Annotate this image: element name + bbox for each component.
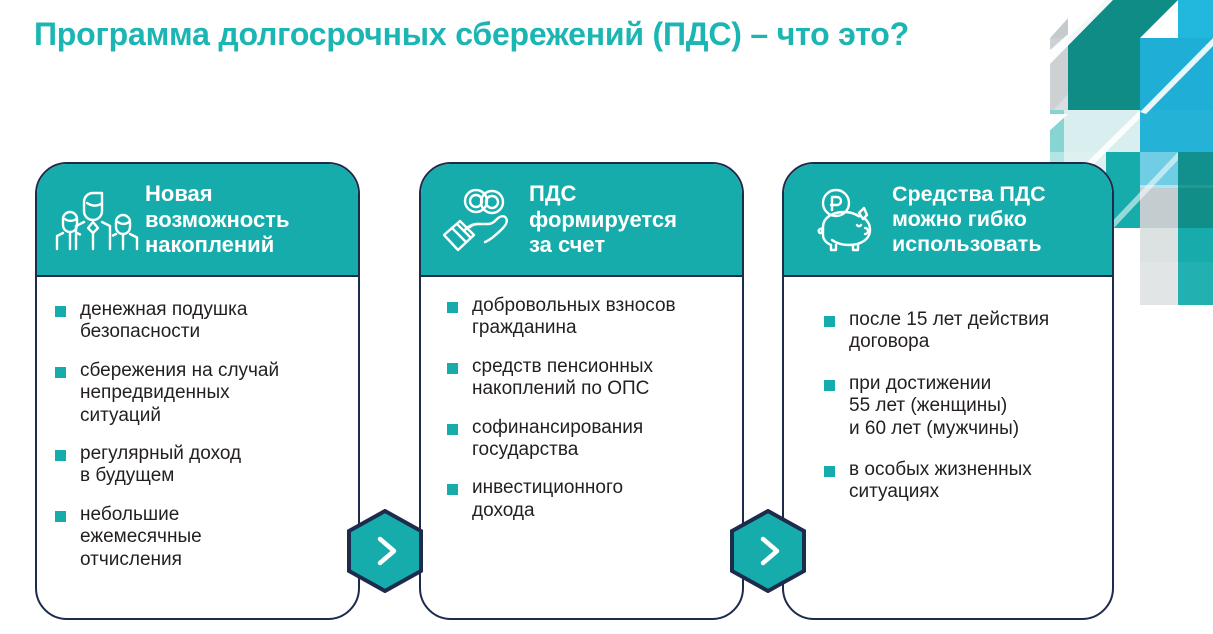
card-title: ПДС формируется за счет: [527, 181, 730, 258]
list-item: в особых жизненных ситуациях: [824, 459, 1096, 504]
bullet-square-icon: [447, 424, 458, 435]
hexagon-shape: [346, 509, 424, 593]
list-item-label: добровольных взносов гражданина: [472, 295, 726, 340]
bullet-square-icon: [55, 306, 66, 317]
connector-hexagon-1[interactable]: [346, 509, 424, 593]
list-item-label: сбережения на случай непредвиденных ситу…: [80, 360, 342, 427]
list-item: небольшие ежемесячные отчисления: [55, 504, 342, 571]
hand-with-coins-icon: [435, 183, 527, 257]
card-body: денежная подушка безопасности сбережения…: [37, 277, 358, 597]
bullet-square-icon: [447, 302, 458, 313]
list-item-label: небольшие ежемесячные отчисления: [80, 504, 342, 571]
card-pds-flexible-use: Средства ПДС можно гибко использовать по…: [782, 162, 1114, 620]
card-body: после 15 лет действия договора при дости…: [784, 277, 1112, 533]
page-title: Программа долгосрочных сбережений (ПДС) …: [34, 16, 1034, 53]
card-body: добровольных взносов гражданина средств …: [421, 277, 742, 548]
card-title: Средства ПДС можно гибко использовать: [890, 182, 1100, 257]
card-header: Новая возможность накоплений: [37, 164, 358, 277]
card-header: ПДС формируется за счет: [421, 164, 742, 277]
list-item: инвестиционного дохода: [447, 477, 726, 522]
list-item: средств пенсионных накоплений по ОПС: [447, 356, 726, 401]
card-new-savings-opportunity: Новая возможность накоплений денежная по…: [35, 162, 360, 620]
slide-canvas: Программа долгосрочных сбережений (ПДС) …: [0, 0, 1213, 634]
list-item-label: денежная подушка безопасности: [80, 299, 342, 344]
list-item-label: средств пенсионных накоплений по ОПС: [472, 356, 726, 401]
bullet-square-icon: [55, 450, 66, 461]
list-item-label: после 15 лет действия договора: [849, 309, 1096, 354]
list-item: денежная подушка безопасности: [55, 299, 342, 344]
list-item-label: в особых жизненных ситуациях: [849, 459, 1096, 504]
bullet-square-icon: [824, 466, 835, 477]
card-title: Новая возможность накоплений: [143, 181, 346, 258]
list-item: добровольных взносов гражданина: [447, 295, 726, 340]
list-item-label: при достижении 55 лет (женщины) и 60 лет…: [849, 373, 1096, 440]
list-item: регулярный доход в будущем: [55, 443, 342, 488]
bullet-square-icon: [447, 484, 458, 495]
list-item: сбережения на случай непредвиденных ситу…: [55, 360, 342, 427]
list-item: после 15 лет действия договора: [824, 309, 1096, 354]
list-item-label: регулярный доход в будущем: [80, 443, 342, 488]
connector-hexagon-2[interactable]: [729, 509, 807, 593]
list-item: при достижении 55 лет (женщины) и 60 лет…: [824, 373, 1096, 440]
three-people-icon: [51, 183, 143, 257]
list-item: софинансирования государства: [447, 417, 726, 462]
card-header: Средства ПДС можно гибко использовать: [784, 164, 1112, 277]
bullet-square-icon: [55, 511, 66, 522]
piggy-bank-ruble-icon: [798, 183, 890, 257]
bullet-square-icon: [824, 316, 835, 327]
list-item-label: софинансирования государства: [472, 417, 726, 462]
card-pds-formed-from: ПДС формируется за счет добровольных взн…: [419, 162, 744, 620]
list-item-label: инвестиционного дохода: [472, 477, 726, 522]
bullet-square-icon: [447, 363, 458, 374]
bullet-square-icon: [55, 367, 66, 378]
bullet-square-icon: [824, 380, 835, 391]
hexagon-shape: [729, 509, 807, 593]
